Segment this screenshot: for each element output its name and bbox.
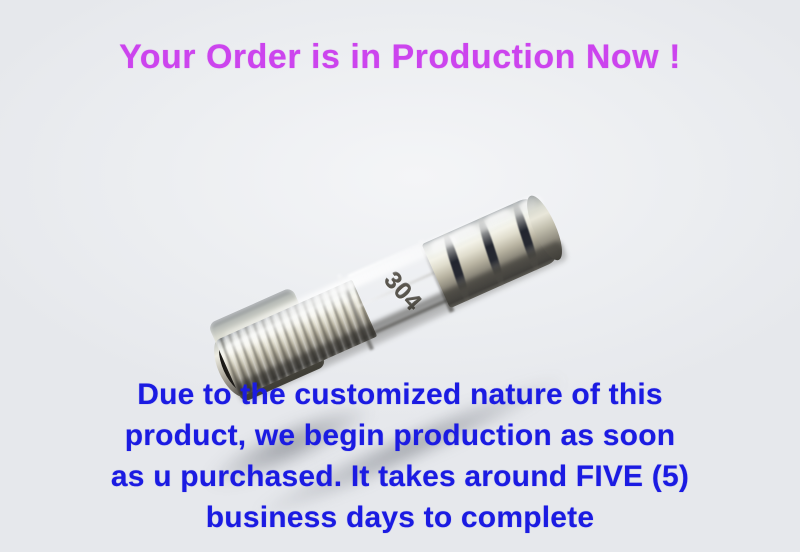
headline-text: Your Order is in Production Now ! (0, 38, 800, 77)
body-line-4: business days to complete (0, 497, 800, 538)
product-photo: 304 (0, 130, 800, 380)
body-line-1: Due to the customized nature of this (0, 374, 800, 415)
promo-banner: Your Order is in Production Now ! 304 (0, 0, 800, 552)
body-line-2: product, we begin production as soon (0, 415, 800, 456)
body-line-3: as u purchased. It takes around FIVE (5) (0, 456, 800, 497)
body-text: Due to the customized nature of this pro… (0, 374, 800, 538)
